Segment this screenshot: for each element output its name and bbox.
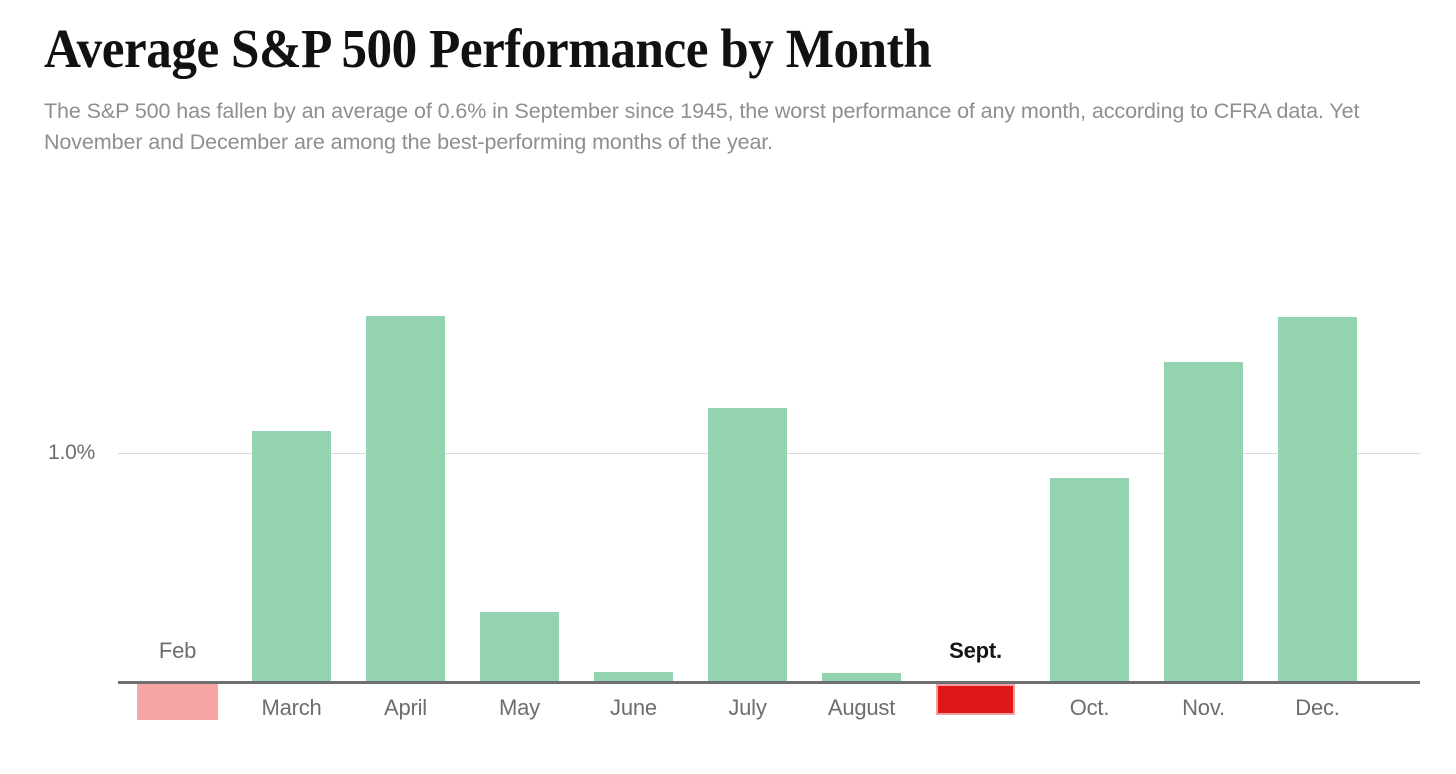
x-label-july: July xyxy=(708,695,787,721)
x-label-april: April xyxy=(366,695,445,721)
bar-slot-august xyxy=(822,0,901,774)
x-label-nov: Nov. xyxy=(1164,695,1243,721)
bar-august[interactable] xyxy=(822,673,901,681)
chart-page: Average S&P 500 Performance by Month The… xyxy=(0,0,1456,774)
bar-nov[interactable] xyxy=(1164,362,1243,681)
bar-oct[interactable] xyxy=(1050,478,1129,681)
bar-july[interactable] xyxy=(708,408,787,681)
bar-slot-oct xyxy=(1050,0,1129,774)
x-label-march: March xyxy=(252,695,331,721)
bar-june[interactable] xyxy=(594,672,673,681)
bar-april[interactable] xyxy=(366,316,445,681)
bar-slot-march xyxy=(252,0,331,774)
x-label-sept: Sept. xyxy=(936,638,1015,664)
x-label-june: June xyxy=(594,695,673,721)
bar-slot-june xyxy=(594,0,673,774)
bar-sept[interactable] xyxy=(936,684,1015,715)
bar-slot-nov xyxy=(1164,0,1243,774)
x-label-august: August xyxy=(822,695,901,721)
bar-slot-april xyxy=(366,0,445,774)
x-label-oct: Oct. xyxy=(1050,695,1129,721)
x-label-feb: Feb xyxy=(137,638,218,664)
x-label-dec: Dec. xyxy=(1278,695,1357,721)
bar-slot-july xyxy=(708,0,787,774)
bar-dec[interactable] xyxy=(1278,317,1357,681)
bar-may[interactable] xyxy=(480,612,559,681)
bar-slot-may xyxy=(480,0,559,774)
bar-feb[interactable] xyxy=(137,684,218,720)
plot-area: 1.0% xyxy=(0,0,1456,774)
bar-group xyxy=(0,0,1456,774)
bar-march[interactable] xyxy=(252,431,331,681)
bar-slot-dec xyxy=(1278,0,1357,774)
x-label-may: May xyxy=(480,695,559,721)
